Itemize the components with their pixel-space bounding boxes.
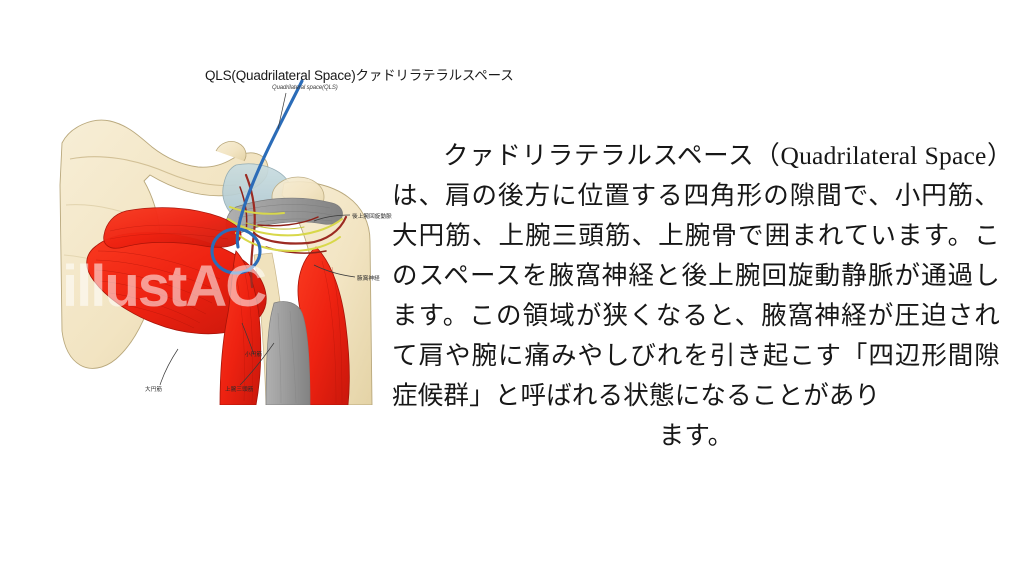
anatomy-illustration bbox=[40, 55, 400, 405]
anatomy-figure: illustAC QLS(Quadrilateral Space)クァドリラテラ… bbox=[40, 55, 400, 405]
body-paragraph: クァドリラテラルスペース（Quadrilateral Space）は、肩の後方に… bbox=[392, 136, 1000, 456]
label-teres-major: 大円筋 bbox=[145, 385, 162, 393]
slide-canvas: illustAC QLS(Quadrilateral Space)クァドリラテラ… bbox=[0, 0, 1024, 576]
figure-title: QLS(Quadrilateral Space)クァドリラテラルスペース bbox=[205, 64, 514, 84]
label-teres-minor: 小円筋 bbox=[245, 350, 262, 358]
body-paragraph-text: クァドリラテラルスペース（Quadrilateral Space）は、肩の後方に… bbox=[392, 141, 1000, 410]
triceps-brachii-muscle bbox=[220, 247, 349, 405]
label-axillary-nerve: 腋窩神経 bbox=[357, 274, 380, 282]
body-paragraph-last-line: ます。 bbox=[392, 416, 1000, 456]
teres-minor-muscle bbox=[104, 208, 241, 249]
figure-subtitle: Quadrilateral space(QLS) bbox=[272, 85, 338, 91]
label-triceps-brachii: 上腕三頭筋 bbox=[225, 385, 253, 393]
label-posterior-circumflex-humeral-artery: 後上腕回旋動脈 bbox=[352, 212, 392, 220]
triceps-tendon bbox=[266, 301, 310, 405]
